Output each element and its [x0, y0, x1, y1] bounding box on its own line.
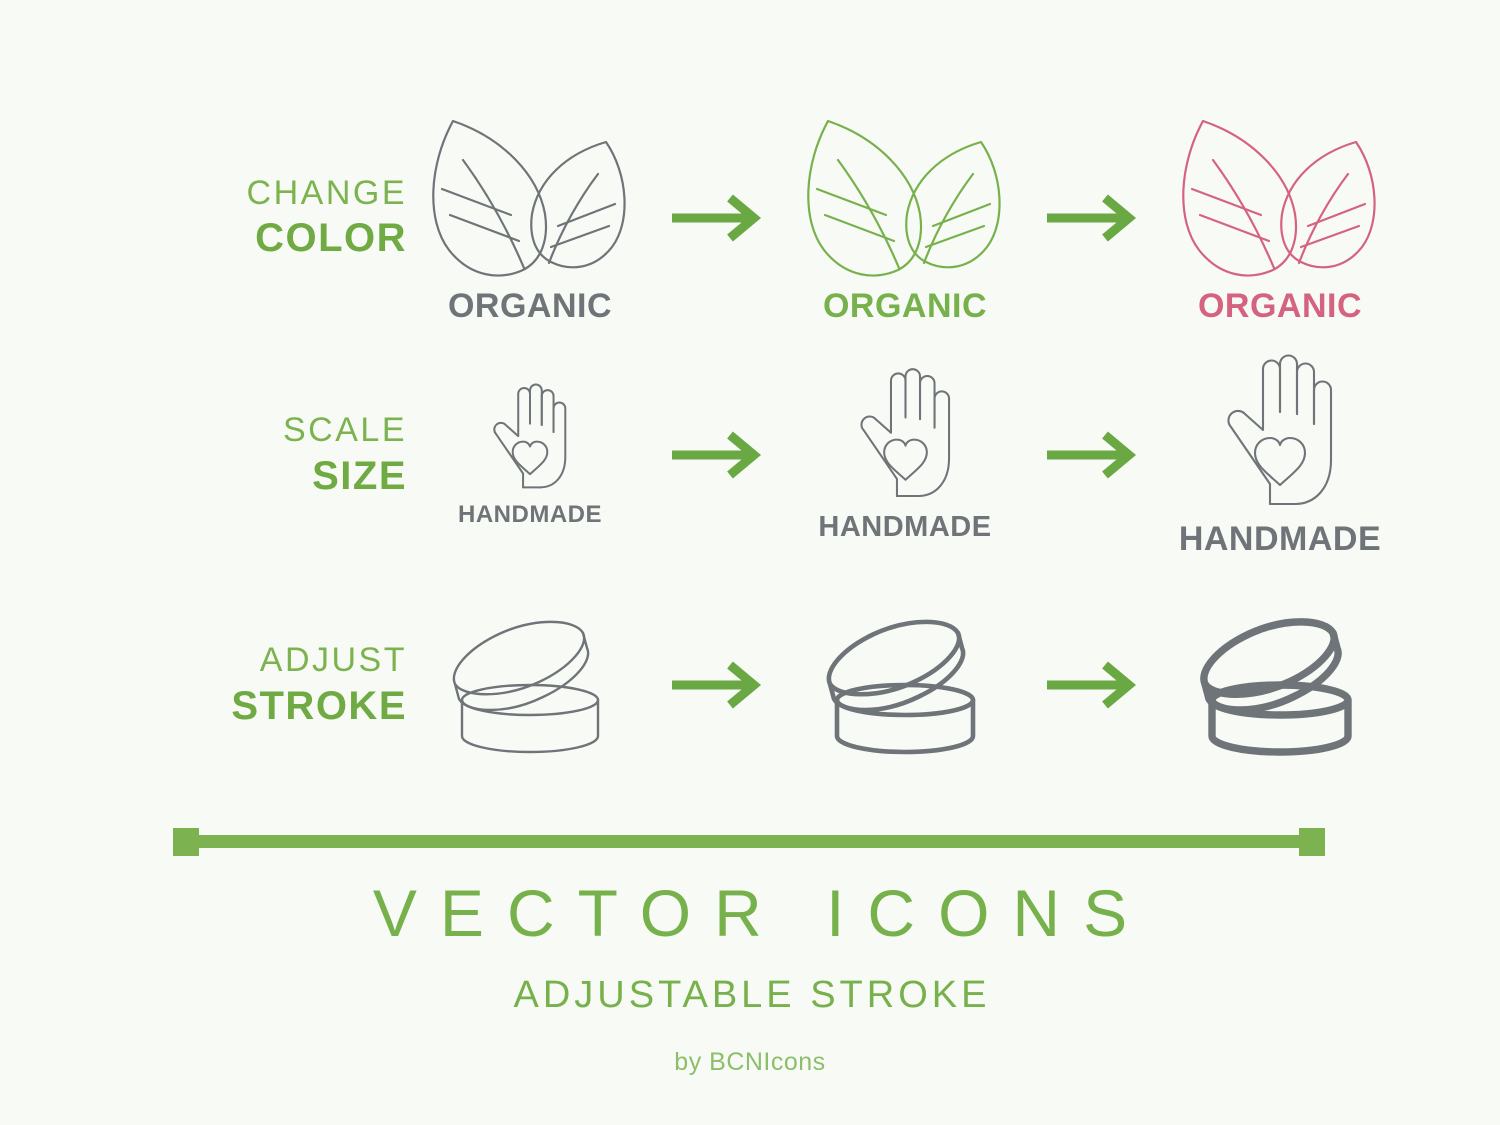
icon-step-jar-medium[interactable] — [790, 614, 1020, 757]
icon-caption: HANDMADE — [818, 511, 991, 544]
cosmetic-jar-icon — [819, 614, 991, 757]
row-items-adjust-stroke — [415, 614, 1500, 757]
hand-heart-icon — [485, 382, 575, 493]
row-items-scale-size: HANDMADE — [415, 352, 1500, 559]
row-label-adjust-stroke: ADJUST STROKE — [0, 643, 415, 727]
icon-caption: ORGANIC — [448, 287, 612, 326]
leaf-icon — [798, 110, 1013, 285]
row-label-change-color: CHANGE COLOR — [0, 176, 415, 260]
icon-step-leaf-pink[interactable]: ORGANIC — [1165, 110, 1395, 326]
icon-step-hand-small[interactable]: HANDMADE — [415, 382, 645, 529]
icon-caption: ORGANIC — [823, 287, 987, 326]
icon-step-hand-large[interactable]: HANDMADE — [1165, 352, 1395, 559]
subtitle: ADJUSTABLE STROKE — [0, 976, 1500, 1014]
arrow-right-icon — [1020, 193, 1165, 243]
arrow-right-icon — [1020, 660, 1165, 710]
hand-heart-icon — [1215, 352, 1345, 512]
row-items-change-color: ORGANIC — [415, 110, 1500, 326]
row-label-top: SCALE — [0, 413, 407, 449]
cosmetic-jar-icon — [444, 614, 616, 757]
row-label-bottom: STROKE — [0, 685, 407, 727]
footer-block: VECTOR ICONS ADJUSTABLE STROKE by BCNIco… — [0, 880, 1500, 1075]
main-title: VECTOR ICONS — [0, 880, 1500, 946]
arrow-right-icon — [645, 660, 790, 710]
row-label-top: ADJUST — [0, 643, 407, 679]
byline: by BCNIcons — [0, 1050, 1500, 1075]
arrow-right-icon — [1020, 430, 1165, 480]
row-label-bottom: SIZE — [0, 455, 407, 497]
row-label-bottom: COLOR — [0, 217, 407, 259]
divider-bar — [173, 828, 1325, 856]
icon-caption: HANDMADE — [458, 501, 602, 529]
row-adjust-stroke: ADJUST STROKE — [0, 600, 1500, 770]
infographic-canvas: CHANGE COLOR — [0, 0, 1500, 1125]
icon-step-leaf-green[interactable]: ORGANIC — [790, 110, 1020, 326]
hand-heart-icon — [850, 366, 961, 503]
icon-step-leaf-gray[interactable]: ORGANIC — [415, 110, 645, 326]
cosmetic-jar-icon — [1194, 614, 1366, 757]
leaf-icon — [1173, 110, 1388, 285]
arrow-right-icon — [645, 430, 790, 480]
leaf-icon — [423, 110, 638, 285]
icon-caption: HANDMADE — [1179, 520, 1381, 559]
row-label-scale-size: SCALE SIZE — [0, 413, 415, 497]
arrow-right-icon — [645, 193, 790, 243]
icon-step-jar-thin[interactable] — [415, 614, 645, 757]
row-scale-size: SCALE SIZE — [0, 355, 1500, 555]
icon-step-hand-medium[interactable]: HANDMADE — [790, 366, 1020, 544]
icon-step-jar-thick[interactable] — [1165, 614, 1395, 757]
row-label-top: CHANGE — [0, 176, 407, 212]
row-change-color: CHANGE COLOR — [0, 110, 1500, 325]
icon-caption: ORGANIC — [1198, 287, 1362, 326]
